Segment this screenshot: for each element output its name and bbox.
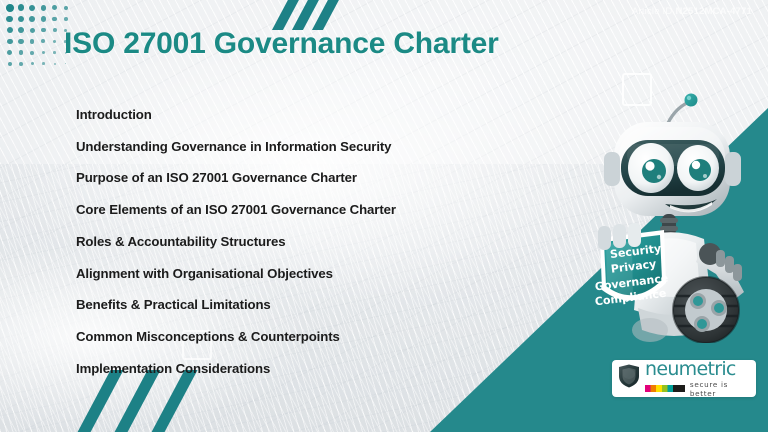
grid-dot xyxy=(18,16,24,22)
toc-item[interactable]: Introduction xyxy=(76,108,506,121)
table-of-contents: IntroductionUnderstanding Governance in … xyxy=(76,108,506,393)
logo-tagline: secure is better xyxy=(690,380,751,398)
grid-dot xyxy=(18,39,23,44)
grid-dot xyxy=(19,50,23,54)
grid-dot xyxy=(6,4,14,12)
grid-dot xyxy=(41,16,46,21)
grid-dot xyxy=(53,51,56,54)
grid-dot xyxy=(41,5,47,11)
grid-dot xyxy=(31,62,34,65)
grid-dot xyxy=(6,16,13,23)
grid-dot xyxy=(30,28,35,33)
grid-dot xyxy=(7,50,12,55)
shield-icon xyxy=(617,363,641,394)
slide-canvas: Article IDN2512MCA-4771 ISO 27001 Govern… xyxy=(0,0,768,432)
grid-dot xyxy=(41,28,45,32)
toc-item[interactable]: Alignment with Organisational Objectives xyxy=(76,267,506,280)
grid-dot xyxy=(42,51,45,54)
grid-dot xyxy=(7,39,13,45)
grid-dot xyxy=(54,63,56,65)
grid-dot xyxy=(64,6,68,10)
grid-dot xyxy=(19,62,23,66)
grid-dot xyxy=(18,27,24,33)
toc-item[interactable]: Common Misconceptions & Counterpoints xyxy=(76,330,506,343)
logo-wordmark: neumetric xyxy=(645,360,751,379)
grid-dot xyxy=(65,63,66,64)
toc-item[interactable]: Implementation Considerations xyxy=(76,362,506,375)
grid-dot xyxy=(64,17,68,21)
grid-dot xyxy=(7,27,13,33)
grid-dot xyxy=(30,39,34,43)
grid-dot xyxy=(41,39,45,43)
page-title: ISO 27001 Governance Charter xyxy=(64,27,499,61)
grid-dot xyxy=(52,5,57,10)
toc-item[interactable]: Purpose of an ISO 27001 Governance Chart… xyxy=(76,171,506,184)
grid-dot xyxy=(29,16,35,22)
grid-dot xyxy=(8,62,12,66)
grid-dot xyxy=(53,28,57,32)
grid-dot xyxy=(29,5,35,11)
article-id: Article IDN2512MCA-4771 xyxy=(632,6,752,17)
article-id-value: N2512MCA-4771 xyxy=(675,6,752,17)
grid-dot xyxy=(18,4,25,11)
article-id-label: Article ID xyxy=(632,6,673,17)
dot-grid-decoration xyxy=(6,4,68,66)
grid-dot xyxy=(42,62,45,65)
brand-logo: neumetric secure is better xyxy=(612,360,756,397)
logo-color-bar-icon xyxy=(645,385,685,392)
grid-dot xyxy=(30,51,34,55)
grid-dot xyxy=(53,40,56,43)
toc-item[interactable]: Core Elements of an ISO 27001 Governance… xyxy=(76,203,506,216)
toc-item[interactable]: Benefits & Practical Limitations xyxy=(76,298,506,311)
logo-text-block: neumetric secure is better xyxy=(645,360,751,398)
grid-dot xyxy=(52,17,56,21)
logo-subrow: secure is better xyxy=(645,380,751,398)
robot-mascot-illustration: Security Privacy Governance Compliance xyxy=(588,78,768,343)
toc-item[interactable]: Understanding Governance in Information … xyxy=(76,140,506,153)
toc-item[interactable]: Roles & Accountability Structures xyxy=(76,235,506,248)
